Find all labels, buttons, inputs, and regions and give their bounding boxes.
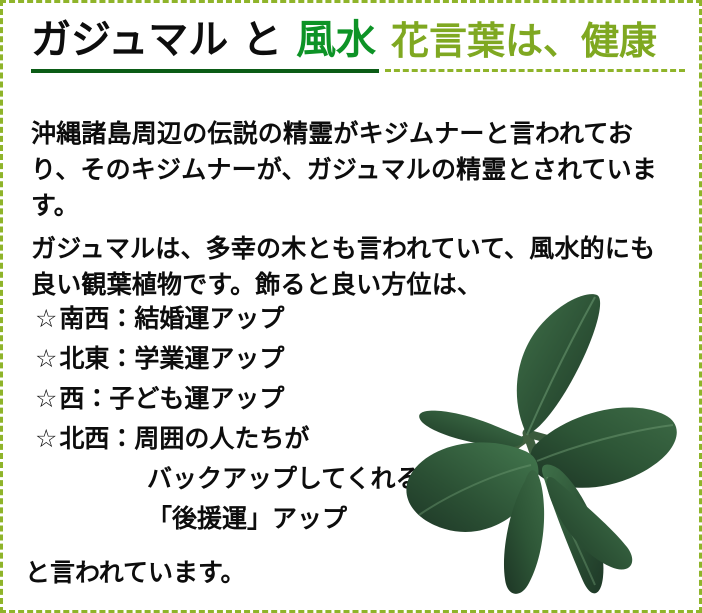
list-item-label: 北西：周囲の人たちが (59, 424, 309, 453)
body-paragraph-legend: 沖縄諸島周辺の伝説の精霊がキジムナーと言われており、そのキジムナーが、ガジュマル… (31, 116, 679, 224)
list-item: ☆南西：結婚運アップ (35, 299, 455, 339)
list-item-continuation: バックアップしてくれる (35, 459, 455, 499)
list-item-continuation-2: 「後援運」アップ (35, 499, 455, 539)
heading-row: ガジュマル と 風水 花言葉は、健康 (3, 3, 699, 81)
list-item: ☆北東：学業運アップ (35, 339, 455, 379)
page-title-prefix: ガジュマル と (31, 17, 296, 63)
leaf-illustration (401, 285, 683, 597)
subtitle-flower-language: 花言葉は、健康 (391, 19, 657, 63)
list-item: ☆西：子ども運アップ (35, 379, 455, 419)
title-underline-solid (31, 69, 379, 73)
star-icon: ☆ (35, 339, 57, 379)
star-icon: ☆ (35, 419, 57, 459)
direction-list: ☆南西：結婚運アップ ☆北東：学業運アップ ☆西：子ども運アップ ☆北西：周囲の… (35, 299, 455, 539)
list-item-label: 西：子ども運アップ (59, 384, 284, 413)
list-item-label: 北東：学業運アップ (59, 344, 284, 373)
list-item: ☆北西：周囲の人たちが バックアップしてくれる 「後援運」アップ (35, 419, 455, 539)
leaf-left-spur (419, 411, 523, 447)
list-item-label: 南西：結婚運アップ (59, 304, 284, 333)
page-title-accent: 風水 (296, 17, 376, 63)
leaf-top-center (517, 294, 600, 435)
closing-sentence: と言われています。 (25, 556, 246, 590)
star-icon: ☆ (35, 379, 57, 419)
info-card: ガジュマル と 風水 花言葉は、健康 沖縄諸島周辺の伝説の精霊がキジムナーと言わ… (0, 0, 702, 613)
subtitle-underline-dashed (385, 69, 685, 72)
page-title: ガジュマル と 風水 (31, 17, 376, 63)
star-icon: ☆ (35, 299, 57, 339)
gajumaru-plant-photo (401, 285, 683, 597)
